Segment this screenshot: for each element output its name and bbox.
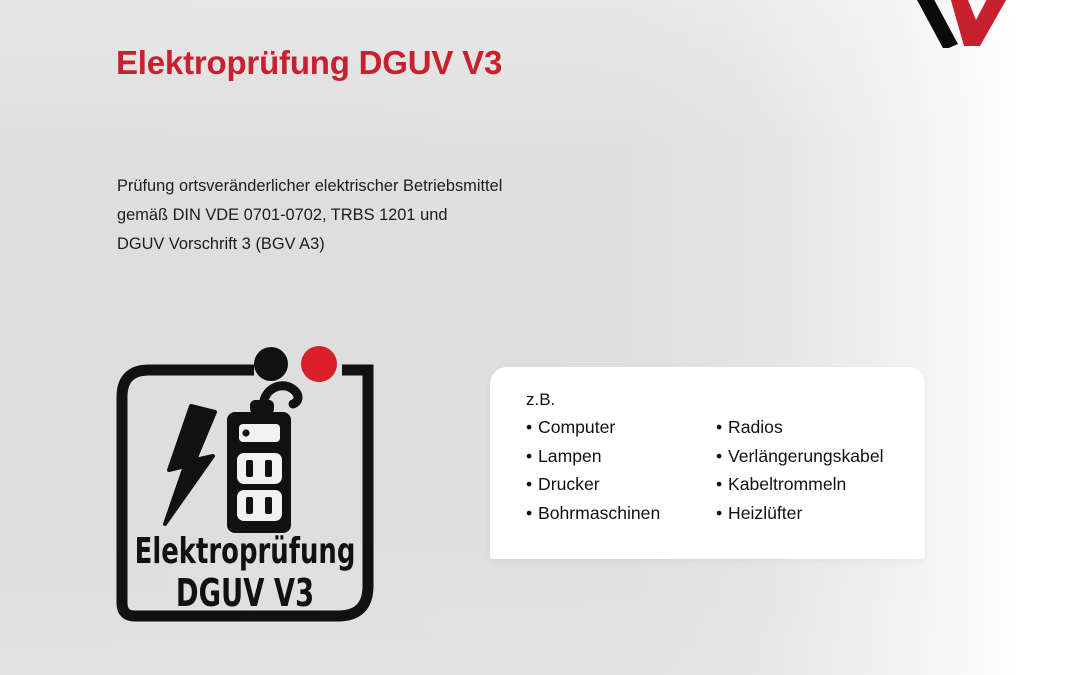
bullet-glyph: • [716, 442, 728, 471]
bullet-glyph: • [716, 499, 728, 528]
slide-canvas: Elektroprüfung DGUV V3 Prüfung ortsverän… [0, 0, 1080, 675]
list-item: •Drucker [526, 470, 716, 499]
list-item-label: Lampen [538, 446, 602, 466]
list-item: •Lampen [526, 442, 716, 471]
examples-card: z.B. •Computer •Lampen •Drucker •Bohrmas… [490, 367, 925, 559]
badge-dot-black [254, 347, 288, 381]
faint-footer-mark: · · · · · · [905, 655, 1055, 669]
bullet-glyph: • [716, 413, 728, 442]
list-item-label: Heizlüfter [728, 503, 802, 523]
bullet-glyph: • [526, 499, 538, 528]
examples-columns: •Computer •Lampen •Drucker •Bohrmaschine… [526, 413, 913, 528]
bullet-glyph: • [526, 470, 538, 499]
power-strip-socket-2 [237, 490, 282, 521]
bullet-glyph: • [716, 470, 728, 499]
list-item: •Bohrmaschinen [526, 499, 716, 528]
power-strip-switch-led [242, 429, 249, 436]
list-item: •Radios [716, 413, 906, 442]
page-title: Elektroprüfung DGUV V3 [116, 44, 502, 82]
bullet-glyph: • [526, 442, 538, 471]
list-item-label: Radios [728, 417, 783, 437]
list-item-label: Verlängerungskabel [728, 446, 884, 466]
examples-column-right: •Radios •Verlängerungskabel •Kabeltromme… [716, 413, 906, 528]
power-strip-icon [227, 386, 298, 533]
examples-column-left: •Computer •Lampen •Drucker •Bohrmaschine… [526, 413, 716, 528]
list-item-label: Drucker [538, 474, 600, 494]
subtitle-line-1: Prüfung ortsveränderlicher elektrischer … [117, 172, 502, 201]
badge-dot-red [301, 346, 337, 382]
list-item-label: Bohrmaschinen [538, 503, 660, 523]
subtitle-line-2: gemäß DIN VDE 0701-0702, TRBS 1201 und [117, 201, 502, 230]
badge-text-line-2: DGUV V3 [176, 572, 314, 616]
list-item-label: Kabeltrommeln [728, 474, 846, 494]
power-strip-cable-nub [250, 400, 274, 414]
power-strip-socket-1 [237, 453, 282, 484]
subtitle-line-3: DGUV Vorschrift 3 (BGV A3) [117, 230, 502, 259]
badge-text-line-1: Elektroprüfung [135, 530, 356, 572]
logo-red-check [948, 0, 1014, 46]
list-item: •Kabeltrommeln [716, 470, 906, 499]
subtitle-block: Prüfung ortsveränderlicher elektrischer … [117, 172, 502, 259]
list-item: •Heizlüfter [716, 499, 906, 528]
w-checkmark-logo[interactable] [910, 0, 1014, 48]
lightning-bolt-icon [165, 406, 215, 524]
bullet-glyph: • [526, 413, 538, 442]
list-item: •Computer [526, 413, 716, 442]
examples-intro-label: z.B. [526, 388, 913, 412]
list-item-label: Computer [538, 417, 615, 437]
list-item: •Verlängerungskabel [716, 442, 906, 471]
logo-black-stroke [916, 0, 958, 48]
dguv-v3-badge: Elektroprüfung DGUV V3 [113, 338, 383, 623]
